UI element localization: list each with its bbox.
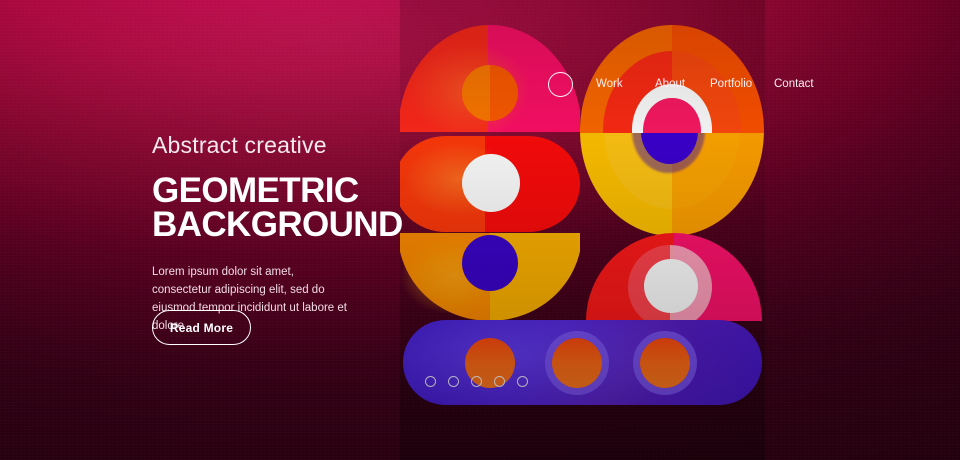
pill-white-circle: [462, 154, 520, 212]
art-cell-dome-red-magenta: [582, 233, 764, 321]
hero-headline-line-1: GEOMETRIC: [152, 174, 412, 208]
art-cell-big-circle-bottom: [578, 133, 766, 236]
carousel-dot-1[interactable]: [425, 376, 436, 387]
art-cell-purple-bar: [400, 320, 765, 408]
inverted-dome-blue-circle: [462, 235, 518, 291]
dome-inner-orange-circle: [462, 65, 518, 121]
carousel-dot-3[interactable]: [471, 376, 482, 387]
hero-banner: Work About Portfolio Contact Abstract cr…: [0, 0, 960, 460]
nav-item-work[interactable]: Work: [596, 78, 623, 90]
carousel-dots[interactable]: [425, 376, 528, 387]
orange-orb-2[interactable]: [552, 338, 602, 388]
carousel-dot-5[interactable]: [517, 376, 528, 387]
read-more-button[interactable]: Read More: [152, 310, 251, 345]
carousel-dot-4[interactable]: [494, 376, 505, 387]
art-cell-pill-red: [400, 134, 580, 234]
art-cell-dome-amber-inverted: [400, 233, 580, 321]
hero-headline: GEOMETRIC BACKGROUND: [152, 174, 412, 243]
geometric-artwork: [400, 0, 765, 430]
carousel-dot-2[interactable]: [448, 376, 459, 387]
nav-item-portfolio[interactable]: Portfolio: [710, 78, 752, 90]
hero-copy: Abstract creative GEOMETRIC BACKGROUND L…: [152, 132, 412, 335]
nav-item-about[interactable]: About: [655, 78, 685, 90]
red-dome-white-circle: [644, 259, 698, 313]
circle-outline-marker-icon: [548, 72, 573, 97]
big-circle-bottom-shape: [580, 133, 764, 236]
nav-item-contact[interactable]: Contact: [774, 78, 814, 90]
hero-headline-line-2: BACKGROUND: [152, 208, 412, 242]
orange-orb-3[interactable]: [640, 338, 690, 388]
hero-eyebrow: Abstract creative: [152, 132, 412, 160]
